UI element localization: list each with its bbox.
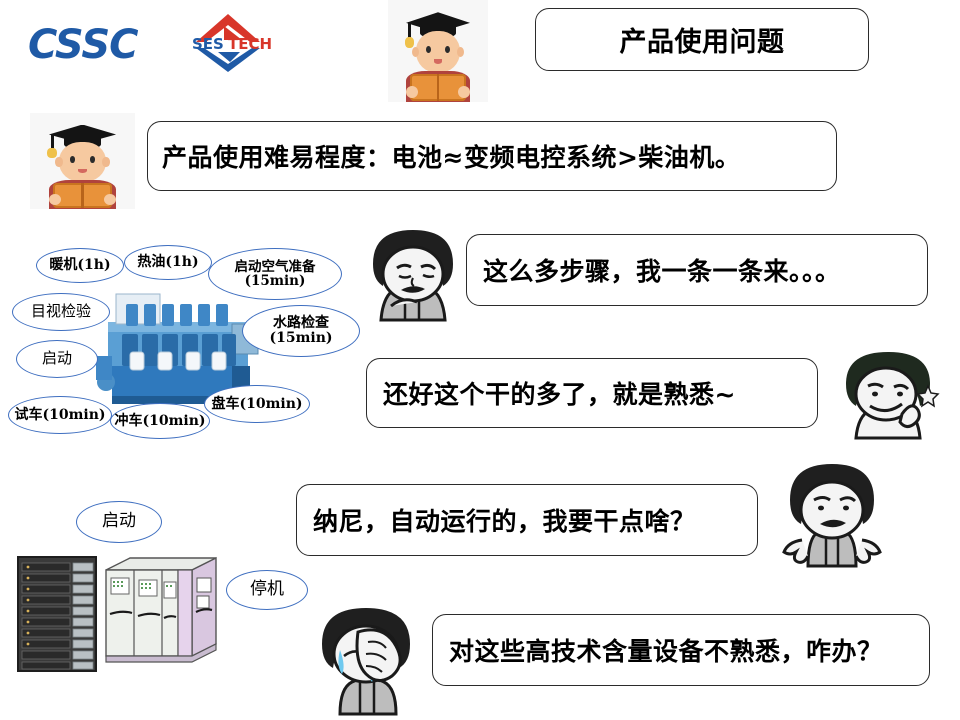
graduate-student-icon-top	[388, 0, 488, 102]
engine-label-flush: 冲车(10min)	[110, 403, 210, 439]
eye-right	[445, 46, 450, 53]
hand-right	[104, 194, 117, 206]
start-air-line1: 启动空气准备	[235, 260, 316, 274]
speech-bubble-what-to-do: 纳尼，自动运行的，我要干点啥？	[296, 484, 758, 556]
crying-face-character	[306, 598, 432, 716]
engine-label-visual-check: 目视检验	[12, 293, 110, 331]
control-cabinet-image	[100, 548, 225, 668]
engine-label-hot-oil: 热油(1h)	[124, 245, 212, 280]
speech-bubble-familiar: 还好这个干的多了，就是熟悉~	[366, 358, 818, 428]
engine-label-turning: 盘车(10min)	[204, 385, 310, 423]
sestech-logo: SES TECH	[178, 8, 278, 76]
svg-text:TECH: TECH	[228, 35, 272, 53]
difficulty-statement-box: 产品使用难易程度：电池≈变频电控系统>柴油机。	[147, 121, 837, 191]
engine-label-trial-run: 试车(10min)	[8, 396, 112, 434]
ear-right	[457, 47, 464, 57]
graduate-student-icon-left	[30, 113, 135, 209]
cap-tassel-knot	[405, 37, 414, 48]
cap-tassel-knot	[47, 148, 56, 159]
eye-left	[426, 46, 431, 53]
book-spine	[437, 74, 439, 101]
face	[416, 31, 460, 74]
engine-label-warmup: 暖机(1h)	[36, 248, 124, 283]
equipment-label-start: 启动	[76, 501, 162, 543]
hand-left	[406, 86, 418, 98]
grimacing-face-character	[357, 218, 469, 330]
ear-right	[102, 157, 109, 167]
hand-right	[458, 86, 470, 98]
water-check-line2: (15min)	[269, 331, 332, 346]
svg-text:SES: SES	[192, 35, 224, 53]
book-spine	[81, 183, 83, 208]
engine-label-start-air: 启动空气准备 (15min)	[208, 248, 342, 300]
engine-label-start: 启动	[16, 340, 98, 378]
eye-left	[70, 156, 75, 163]
engine-label-water-check: 水路检查 (15min)	[242, 305, 360, 357]
shrugging-face-character	[772, 452, 892, 572]
equipment-label-stop: 停机	[226, 570, 308, 610]
speech-bubble-many-steps: 这么多步骤，我一条一条来。。。	[466, 234, 928, 306]
face	[59, 142, 105, 182]
eye-right	[90, 156, 95, 163]
cssc-logo: CSSC	[28, 22, 137, 68]
smug-thumbsup-face-character	[828, 342, 946, 442]
battery-rack-image	[16, 555, 98, 673]
water-check-line1: 水路检查	[273, 316, 329, 331]
ear-left	[412, 47, 419, 57]
speech-bubble-unfamiliar: 对这些高技术含量设备不熟悉，咋办？	[432, 614, 930, 686]
start-air-line2: (15min)	[245, 274, 306, 288]
ear-left	[55, 157, 62, 167]
page-title: 产品使用问题	[535, 8, 869, 71]
